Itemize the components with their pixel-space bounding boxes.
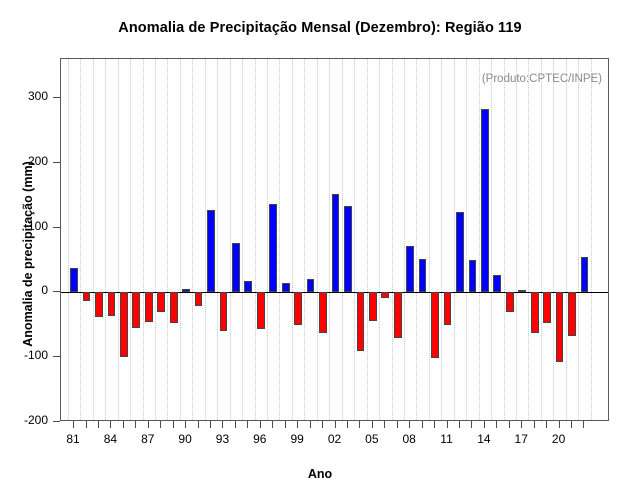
bar-86	[132, 292, 140, 328]
x-tick-label: 02	[320, 432, 350, 446]
bar-09	[419, 259, 427, 293]
bar-21	[568, 292, 576, 336]
x-tick	[434, 421, 435, 428]
grid-line	[441, 59, 442, 420]
x-tick-label: 93	[207, 432, 237, 446]
grid-line	[80, 59, 81, 420]
grid-line	[267, 59, 268, 420]
bar-10	[431, 292, 439, 358]
bar-98	[282, 283, 290, 293]
bar-89	[170, 292, 178, 323]
grid-line	[292, 59, 293, 420]
grid-line	[217, 59, 218, 420]
zero-baseline	[61, 292, 608, 293]
x-tick	[521, 421, 522, 428]
y-tick-label: 200	[0, 154, 48, 168]
y-tick-label: 100	[0, 219, 48, 233]
plot-area: (Produto:CPTEC/INPE)	[60, 58, 609, 421]
grid-line	[167, 59, 168, 420]
x-tick-label: 17	[506, 432, 536, 446]
grid-line	[68, 59, 69, 420]
bar-85	[120, 292, 128, 357]
bar-83	[95, 292, 103, 317]
x-tick	[484, 421, 485, 428]
x-tick	[559, 421, 560, 428]
bar-94	[232, 243, 240, 292]
x-tick	[546, 421, 547, 428]
grid-line	[329, 59, 330, 420]
x-tick	[222, 421, 223, 428]
grid-line	[93, 59, 94, 420]
grid-line	[130, 59, 131, 420]
x-tick	[73, 421, 74, 428]
grid-line	[541, 59, 542, 420]
bar-91	[195, 292, 203, 306]
x-tick	[297, 421, 298, 428]
grid-line	[304, 59, 305, 420]
x-tick	[272, 421, 273, 428]
x-tick	[397, 421, 398, 428]
bar-92	[207, 210, 215, 292]
x-tick	[160, 421, 161, 428]
grid-line	[591, 59, 592, 420]
x-tick	[173, 421, 174, 428]
bar-17	[518, 290, 526, 292]
x-tick	[447, 421, 448, 428]
grid-line	[392, 59, 393, 420]
bar-96	[257, 292, 265, 328]
y-tick	[53, 162, 60, 163]
x-tick	[384, 421, 385, 428]
grid-line	[143, 59, 144, 420]
bar-81	[70, 268, 78, 292]
y-tick	[53, 421, 60, 422]
y-tick-label: -200	[0, 413, 48, 427]
grid-line	[528, 59, 529, 420]
x-tick	[347, 421, 348, 428]
bar-01	[319, 292, 327, 332]
x-tick-label: 90	[170, 432, 200, 446]
x-tick	[98, 421, 99, 428]
grid-line	[491, 59, 492, 420]
x-tick	[496, 421, 497, 428]
x-tick	[422, 421, 423, 428]
y-tick-label: 0	[0, 283, 48, 297]
grid-line	[279, 59, 280, 420]
x-tick-label: 14	[469, 432, 499, 446]
bar-84	[108, 292, 116, 316]
x-tick	[260, 421, 261, 428]
bar-87	[145, 292, 153, 321]
grid-line	[105, 59, 106, 420]
x-tick	[110, 421, 111, 428]
bar-16	[506, 292, 514, 311]
x-tick	[459, 421, 460, 428]
grid-line	[192, 59, 193, 420]
grid-line	[466, 59, 467, 420]
grid-line	[553, 59, 554, 420]
x-tick	[247, 421, 248, 428]
bar-03	[344, 206, 352, 292]
bar-12	[456, 212, 464, 292]
grid-line	[566, 59, 567, 420]
grid-line	[342, 59, 343, 420]
bar-11	[444, 292, 452, 324]
x-tick	[123, 421, 124, 428]
bar-06	[381, 292, 389, 297]
y-tick-label: -100	[0, 348, 48, 362]
x-tick	[372, 421, 373, 428]
x-tick-label: 05	[357, 432, 387, 446]
x-tick-label: 08	[394, 432, 424, 446]
bar-22	[581, 257, 589, 293]
grid-line	[230, 59, 231, 420]
x-tick-label: 20	[544, 432, 574, 446]
page-title: Anomalia de Precipitação Mensal (Dezembr…	[0, 20, 640, 36]
y-tick	[53, 356, 60, 357]
grid-line	[416, 59, 417, 420]
chart-page: Anomalia de Precipitação Mensal (Dezembr…	[0, 0, 640, 500]
x-tick	[285, 421, 286, 428]
bar-14	[481, 109, 489, 292]
grid-line	[516, 59, 517, 420]
x-tick	[471, 421, 472, 428]
x-tick	[571, 421, 572, 428]
x-tick	[335, 421, 336, 428]
bar-18	[531, 292, 539, 332]
x-tick	[322, 421, 323, 428]
bar-93	[220, 292, 228, 331]
grid-line	[504, 59, 505, 420]
x-tick-label: 81	[58, 432, 88, 446]
grid-line	[454, 59, 455, 420]
grid-line	[367, 59, 368, 420]
bar-99	[294, 292, 302, 324]
bar-08	[406, 246, 414, 293]
grid-line	[118, 59, 119, 420]
bar-19	[543, 292, 551, 323]
x-tick	[509, 421, 510, 428]
bar-02	[332, 194, 340, 292]
x-tick	[210, 421, 211, 428]
x-tick	[135, 421, 136, 428]
grid-line	[379, 59, 380, 420]
grid-line	[180, 59, 181, 420]
producer-annotation: (Produto:CPTEC/INPE)	[482, 73, 602, 85]
grid-line	[155, 59, 156, 420]
grid-line	[404, 59, 405, 420]
x-tick	[198, 421, 199, 428]
x-tick-label: 96	[245, 432, 275, 446]
bar-88	[157, 292, 165, 311]
grid-line	[354, 59, 355, 420]
bar-95	[244, 281, 252, 293]
y-tick-label: 300	[0, 89, 48, 103]
x-tick	[409, 421, 410, 428]
x-axis-title: Ano	[0, 467, 640, 481]
y-tick	[53, 97, 60, 98]
bar-20	[556, 292, 564, 362]
x-tick	[86, 421, 87, 428]
x-tick	[235, 421, 236, 428]
x-tick-label: 84	[95, 432, 125, 446]
x-tick	[359, 421, 360, 428]
grid-line	[317, 59, 318, 420]
bar-97	[269, 204, 277, 292]
x-tick	[583, 421, 584, 428]
y-tick	[53, 227, 60, 228]
grid-line	[578, 59, 579, 420]
x-tick-label: 87	[133, 432, 163, 446]
bar-82	[83, 292, 91, 300]
bar-07	[394, 292, 402, 337]
bar-15	[493, 275, 501, 293]
x-tick-label: 11	[432, 432, 462, 446]
bar-04	[357, 292, 365, 351]
grid-line	[205, 59, 206, 420]
x-tick	[534, 421, 535, 428]
x-tick	[310, 421, 311, 428]
bar-05	[369, 292, 377, 321]
bar-00	[307, 279, 315, 292]
x-tick	[185, 421, 186, 428]
x-tick	[148, 421, 149, 428]
bar-90	[182, 289, 190, 292]
y-tick	[53, 291, 60, 292]
bar-13	[469, 260, 477, 292]
grid-line	[429, 59, 430, 420]
grid-line	[242, 59, 243, 420]
grid-line	[255, 59, 256, 420]
grid-line	[479, 59, 480, 420]
x-tick-label: 99	[282, 432, 312, 446]
